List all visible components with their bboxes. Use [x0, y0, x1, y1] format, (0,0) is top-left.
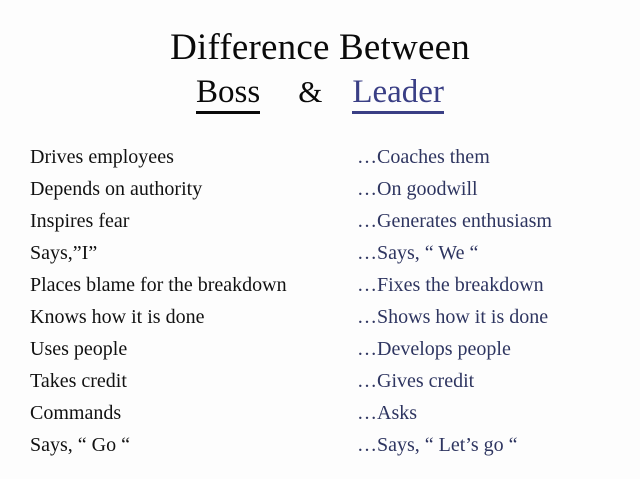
document-heading: Difference Between Boss & Leader	[0, 28, 640, 114]
comparison-row: Commands …Asks	[0, 399, 640, 431]
leader-trait: …Says, “ Let’s go “	[0, 431, 518, 459]
comparison-row: Places blame for the breakdown …Fixes th…	[0, 271, 640, 303]
leader-trait: …Says, “ We “	[0, 239, 478, 267]
comparison-row: Uses people …Develops people	[0, 335, 640, 367]
leader-trait: …Generates enthusiasm	[0, 207, 552, 235]
leader-trait: …Asks	[0, 399, 417, 427]
page-title: Difference Between	[0, 28, 640, 68]
leader-trait: …Develops people	[0, 335, 511, 363]
comparison-row: Inspires fear …Generates enthusiasm	[0, 207, 640, 239]
leader-trait: …On goodwill	[0, 175, 478, 203]
comparison-row: Says,”I” …Says, “ We “	[0, 239, 640, 271]
comparison-list: Drives employees …Coaches them Depends o…	[0, 143, 640, 463]
comparison-row: Drives employees …Coaches them	[0, 143, 640, 175]
column-header-leader: Leader	[352, 74, 444, 114]
comparison-document: Difference Between Boss & Leader Drives …	[0, 0, 640, 479]
comparison-row: Says, “ Go “ …Says, “ Let’s go “	[0, 431, 640, 463]
comparison-row: Takes credit …Gives credit	[0, 367, 640, 399]
column-header-boss: Boss	[196, 74, 260, 114]
ampersand-separator: &	[298, 74, 322, 110]
comparison-row: Depends on authority …On goodwill	[0, 175, 640, 207]
leader-trait: …Coaches them	[0, 143, 490, 171]
comparison-row: Knows how it is done …Shows how it is do…	[0, 303, 640, 335]
leader-trait: …Shows how it is done	[0, 303, 548, 331]
leader-trait: …Fixes the breakdown	[0, 271, 544, 299]
column-headers: Boss & Leader	[0, 74, 640, 114]
leader-trait: …Gives credit	[0, 367, 474, 395]
